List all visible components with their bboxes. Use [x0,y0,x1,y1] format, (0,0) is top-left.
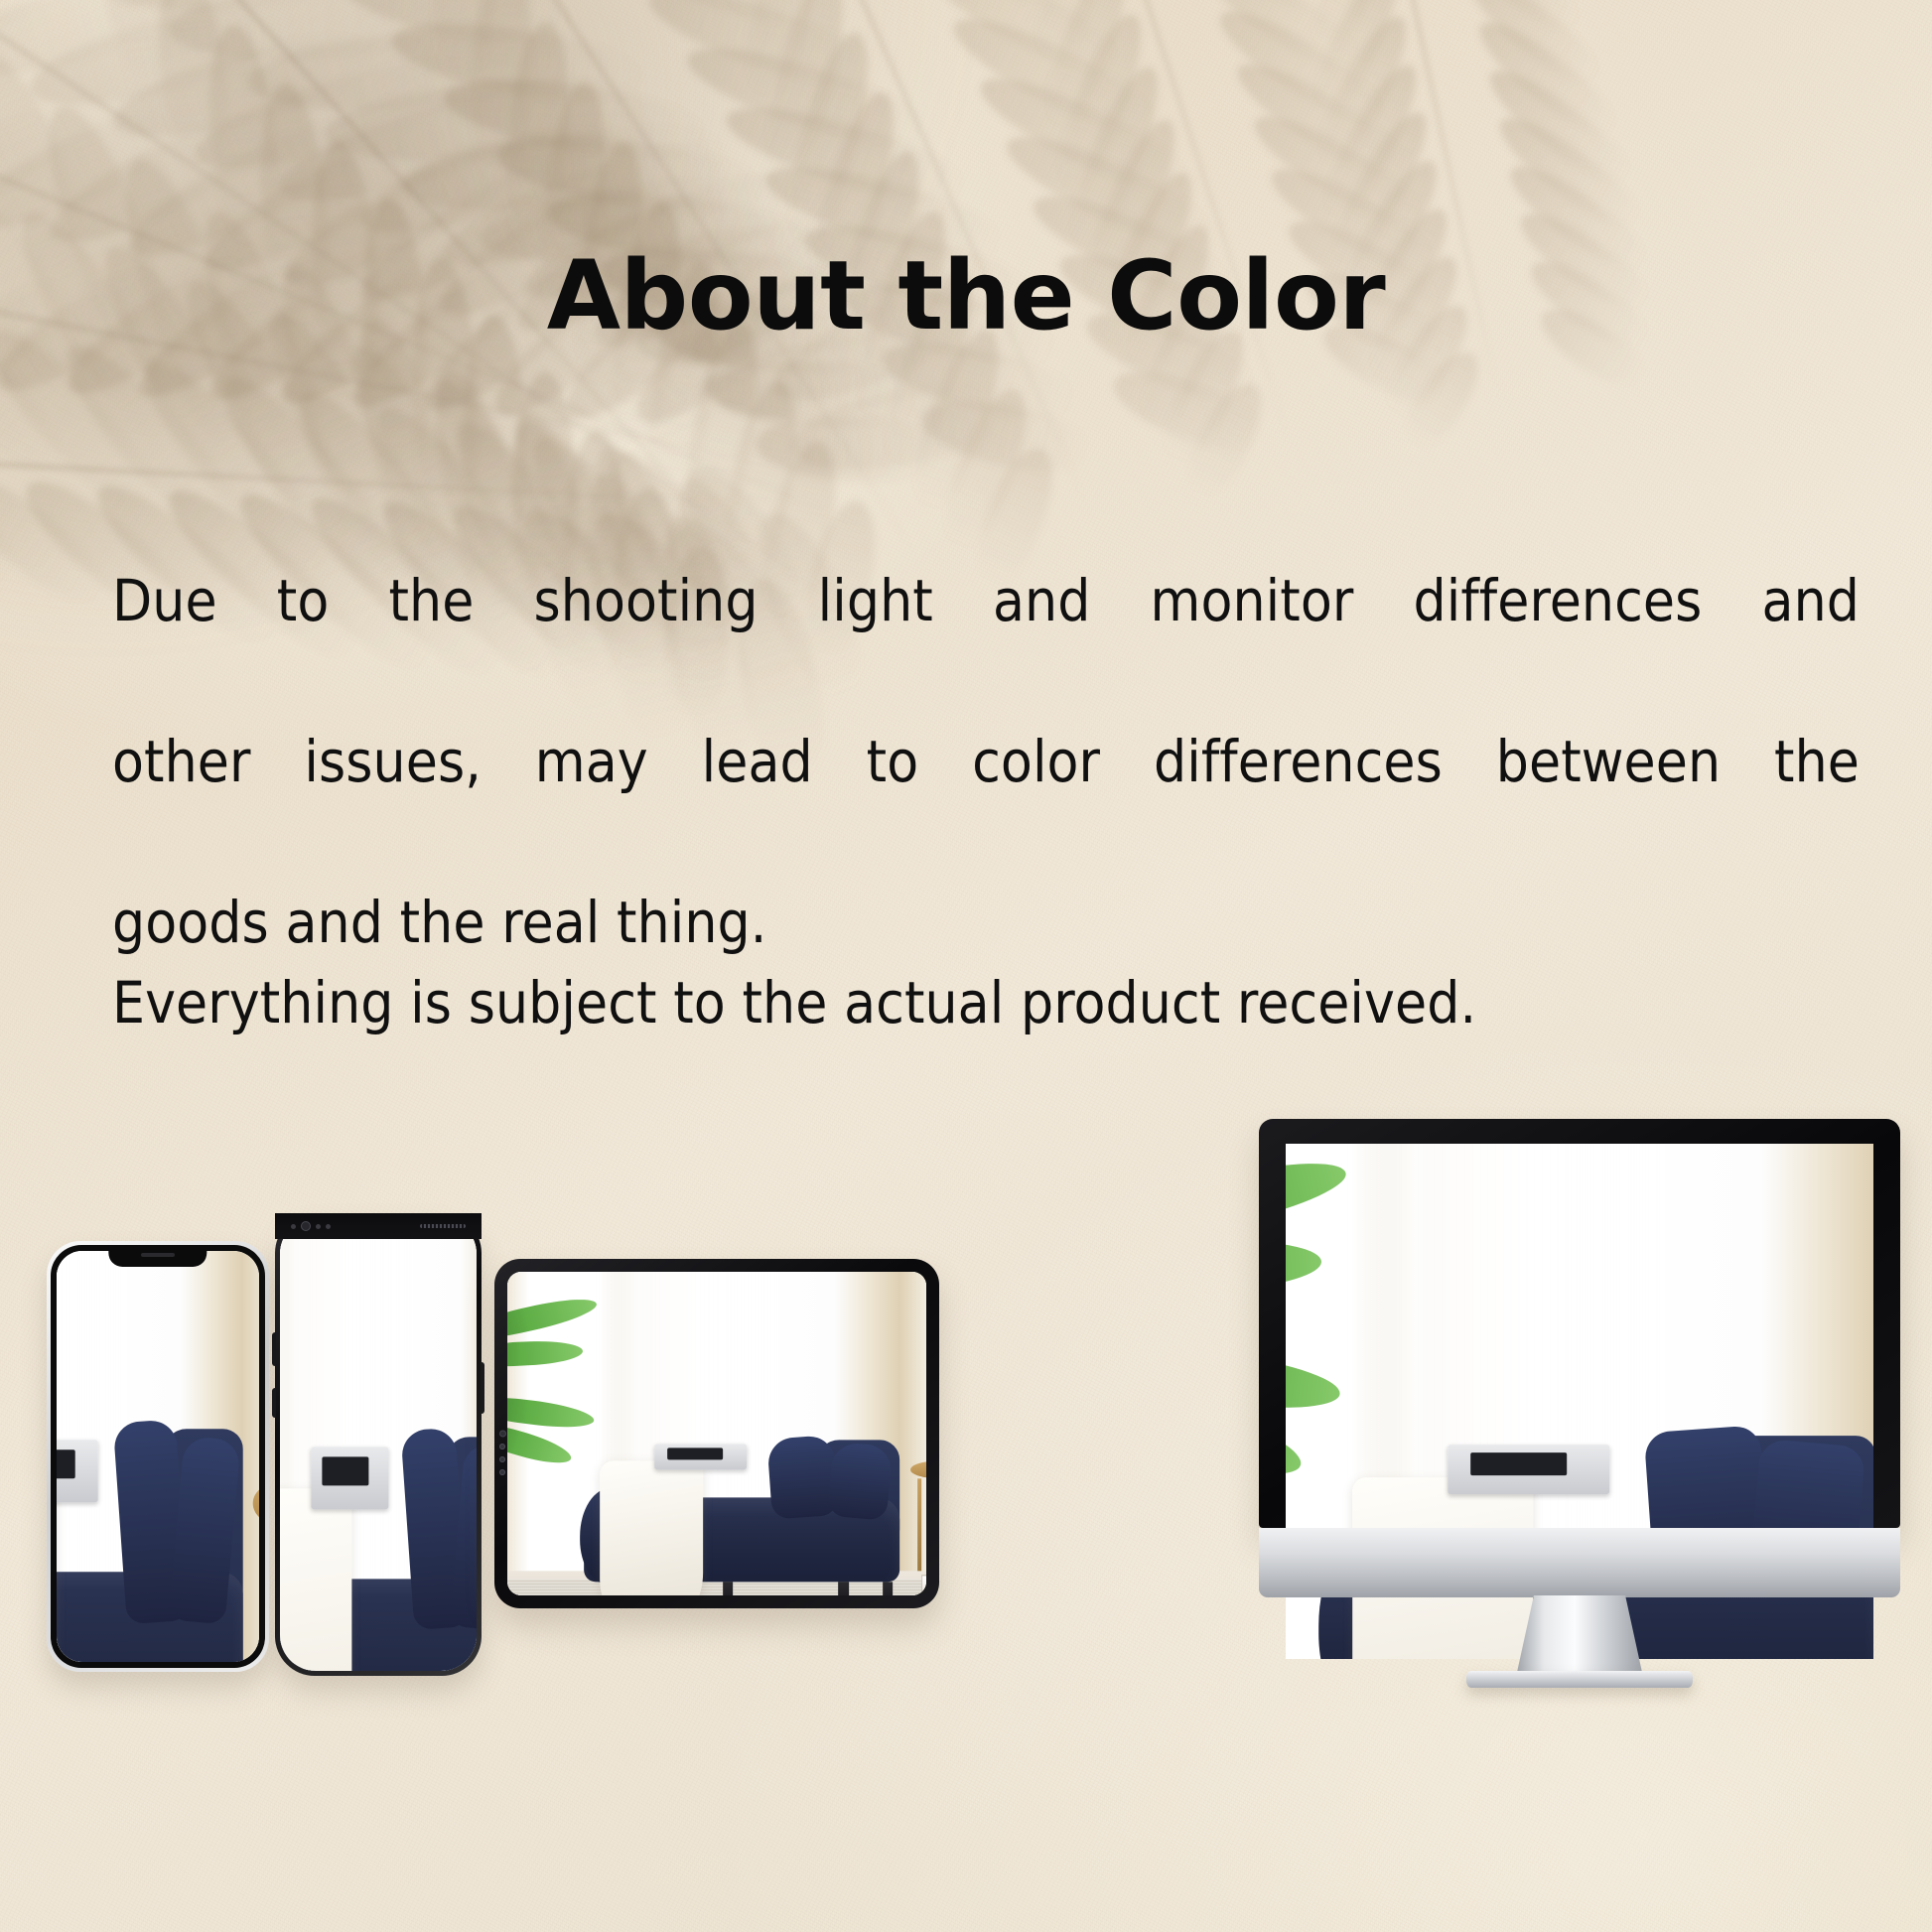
paragraph-line-3: goods and the real thing. [112,883,1860,963]
sensor-dot-icon [326,1224,331,1229]
laptop-on-armrest [57,1440,98,1502]
device-android-phone: THE GRAND TOUR FURNITURE [275,1213,482,1676]
sofa-cushion [767,1435,839,1520]
device-monitor: THE GRAND TOUR FURNITURE [1259,1119,1900,1681]
white-throw-blanket [600,1461,703,1595]
android-sensor-bar [275,1213,482,1239]
sofa-cushion [827,1441,894,1520]
sofa-leg [883,1582,894,1595]
side-table [253,1481,259,1662]
device-tablet: THE GRAND TOUR FURNITURE [494,1259,939,1608]
laptop-on-armrest [654,1445,747,1469]
volume-up-button[interactable] [272,1332,276,1366]
laptop-on-armrest [1448,1445,1609,1494]
smart-connector-pins-icon [499,1444,505,1475]
paragraph-line-4: Everything is subject to the actual prod… [112,963,1860,1043]
iphone-speaker-icon [141,1253,175,1257]
paragraph-line-1: Due to the shooting light and monitor di… [112,561,1860,722]
sensor-dot-icon [316,1224,321,1229]
tablet-screen: THE GRAND TOUR FURNITURE [507,1272,926,1595]
power-button[interactable] [481,1362,484,1414]
stacked-books: THE GRAND TOUR FURNITURE [921,1575,926,1595]
disclaimer-paragraph: Due to the shooting light and monitor di… [112,561,1860,1043]
monitor-stand-neck [1516,1595,1643,1677]
monitor-stand-base [1466,1671,1693,1688]
product-photo-stage: THE GRAND TOUR FURNITURE [57,1251,259,1662]
product-photo-tablet: THE GRAND TOUR FURNITURE [507,1272,926,1595]
earpiece-speaker-icon [420,1224,466,1228]
volume-down-button[interactable] [272,1388,276,1418]
android-screen: THE GRAND TOUR FURNITURE [280,1218,477,1671]
product-photo-stage: THE GRAND TOUR FURNITURE [507,1272,926,1595]
connector-pin-icon [499,1469,505,1475]
sofa-leg [723,1582,734,1595]
front-camera-icon [301,1221,311,1231]
connector-pin-icon [499,1444,505,1449]
iphone-screen: THE GRAND TOUR FURNITURE [57,1251,259,1662]
side-table-top [253,1481,259,1525]
page-title: About the Color [0,248,1932,344]
tablet-front-camera-icon [500,1432,505,1437]
paragraph-line-2: other issues, may lead to color differen… [112,722,1860,883]
monitor-chin [1259,1528,1900,1597]
white-throw-blanket [280,1489,352,1671]
book-top: THE GRAND TOUR [921,1575,926,1595]
laptop-on-armrest [312,1448,388,1510]
device-iphone: THE GRAND TOUR FURNITURE [47,1241,269,1672]
sofa-leg [838,1582,849,1595]
product-photo-iphone: THE GRAND TOUR FURNITURE [57,1251,259,1662]
product-photo-android: THE GRAND TOUR FURNITURE [280,1218,477,1671]
side-table-top [910,1461,926,1479]
iphone-shell: THE GRAND TOUR FURNITURE [51,1245,265,1668]
side-table [910,1461,926,1571]
product-photo-stage: THE GRAND TOUR FURNITURE [280,1218,477,1671]
sensor-dot-icon [291,1224,296,1229]
connector-pin-icon [499,1456,505,1462]
table-leg [917,1478,921,1571]
